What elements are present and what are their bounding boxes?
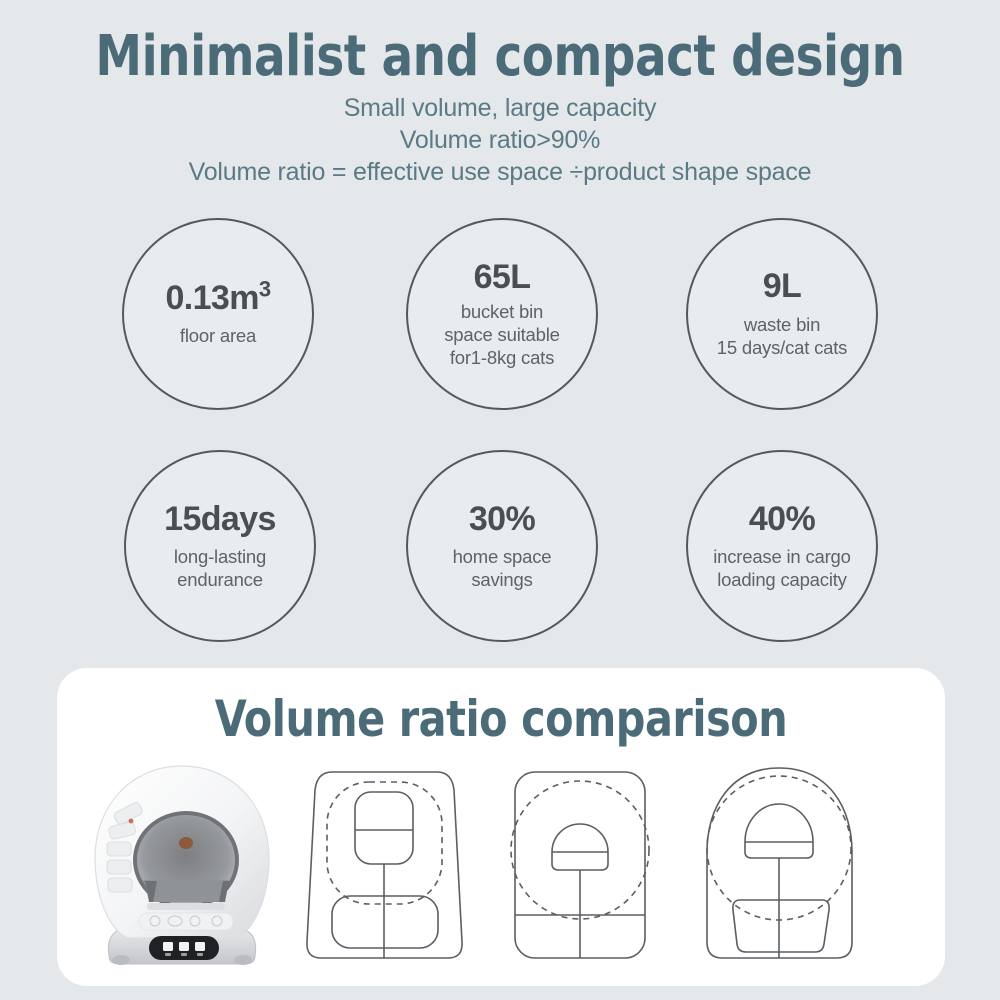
stat-caption: floor area bbox=[180, 324, 256, 347]
subtitle-line-2: Volume ratio>90% bbox=[0, 124, 1000, 156]
subtitle-line-3: Volume ratio = effective use space ÷prod… bbox=[0, 156, 1000, 188]
stat-value: 0.13m3 bbox=[165, 281, 270, 315]
page-title: Minimalist and compact design bbox=[35, 24, 965, 89]
stat-circle-home-space-savings: 30% home space savings bbox=[406, 450, 598, 642]
diagram-sphere-bin bbox=[682, 760, 877, 975]
stat-caption: waste bin 15 days/cat cats bbox=[717, 313, 847, 359]
stat-circle-bucket-bin: 65L bucket bin space suitable for1-8kg c… bbox=[406, 218, 598, 410]
comparison-figure-row bbox=[57, 760, 945, 975]
stat-circle-grid: 0.13m3 floor area 65L bucket bin space s… bbox=[0, 218, 1000, 648]
stat-circle-floor-area: 0.13m3 floor area bbox=[122, 218, 314, 410]
stat-caption: increase in cargo loading capacity bbox=[713, 545, 850, 591]
stat-value: 40% bbox=[749, 502, 815, 536]
stat-value: 65L bbox=[474, 260, 531, 294]
diagram-square-bin bbox=[292, 760, 477, 975]
stat-value: 9L bbox=[763, 269, 801, 303]
stat-value: 30% bbox=[469, 502, 535, 536]
stat-circle-cargo-capacity: 40% increase in cargo loading capacity bbox=[686, 450, 878, 642]
stat-caption: long-lasting endurance bbox=[174, 545, 266, 591]
subtitle-block: Small volume, large capacity Volume rati… bbox=[0, 92, 1000, 188]
volume-ratio-comparison-panel: Volume ratio comparison bbox=[57, 668, 945, 986]
product-photo bbox=[87, 760, 277, 975]
stat-caption: home space savings bbox=[453, 545, 552, 591]
stat-circle-waste-bin: 9L waste bin 15 days/cat cats bbox=[686, 218, 878, 410]
diagram-dome-bin bbox=[487, 760, 672, 975]
stat-value: 15days bbox=[164, 502, 276, 536]
subtitle-line-1: Small volume, large capacity bbox=[0, 92, 1000, 124]
stat-caption: bucket bin space suitable for1-8kg cats bbox=[444, 300, 559, 369]
comparison-title: Volume ratio comparison bbox=[93, 690, 910, 748]
stat-circle-endurance: 15days long-lasting endurance bbox=[124, 450, 316, 642]
